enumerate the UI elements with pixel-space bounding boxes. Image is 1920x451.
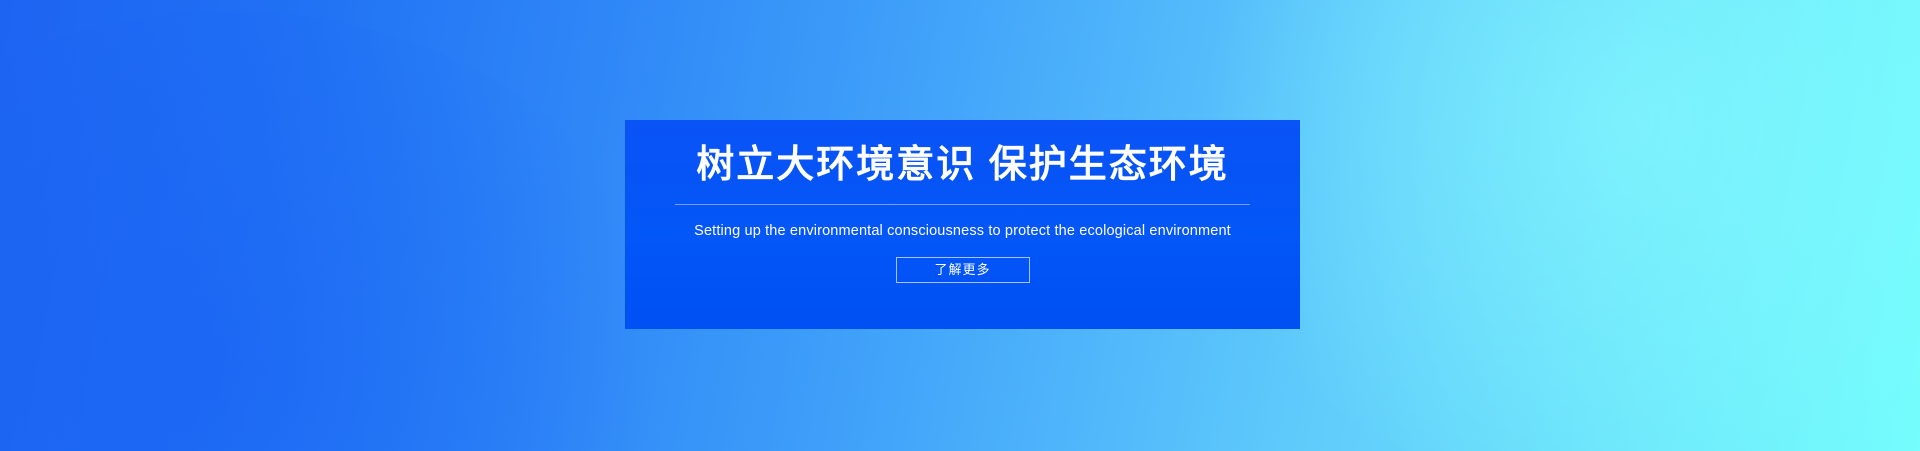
learn-more-button[interactable]: 了解更多: [896, 257, 1030, 283]
hero-banner: 树立大环境意识 保护生态环境 Setting up the environmen…: [0, 0, 1920, 451]
page-subtitle: Setting up the environmental consciousne…: [694, 205, 1231, 241]
hero-content-panel: 树立大环境意识 保护生态环境 Setting up the environmen…: [625, 120, 1300, 329]
page-title: 树立大环境意识 保护生态环境: [696, 120, 1229, 191]
background-glow-bottom-left: [0, 11, 680, 451]
